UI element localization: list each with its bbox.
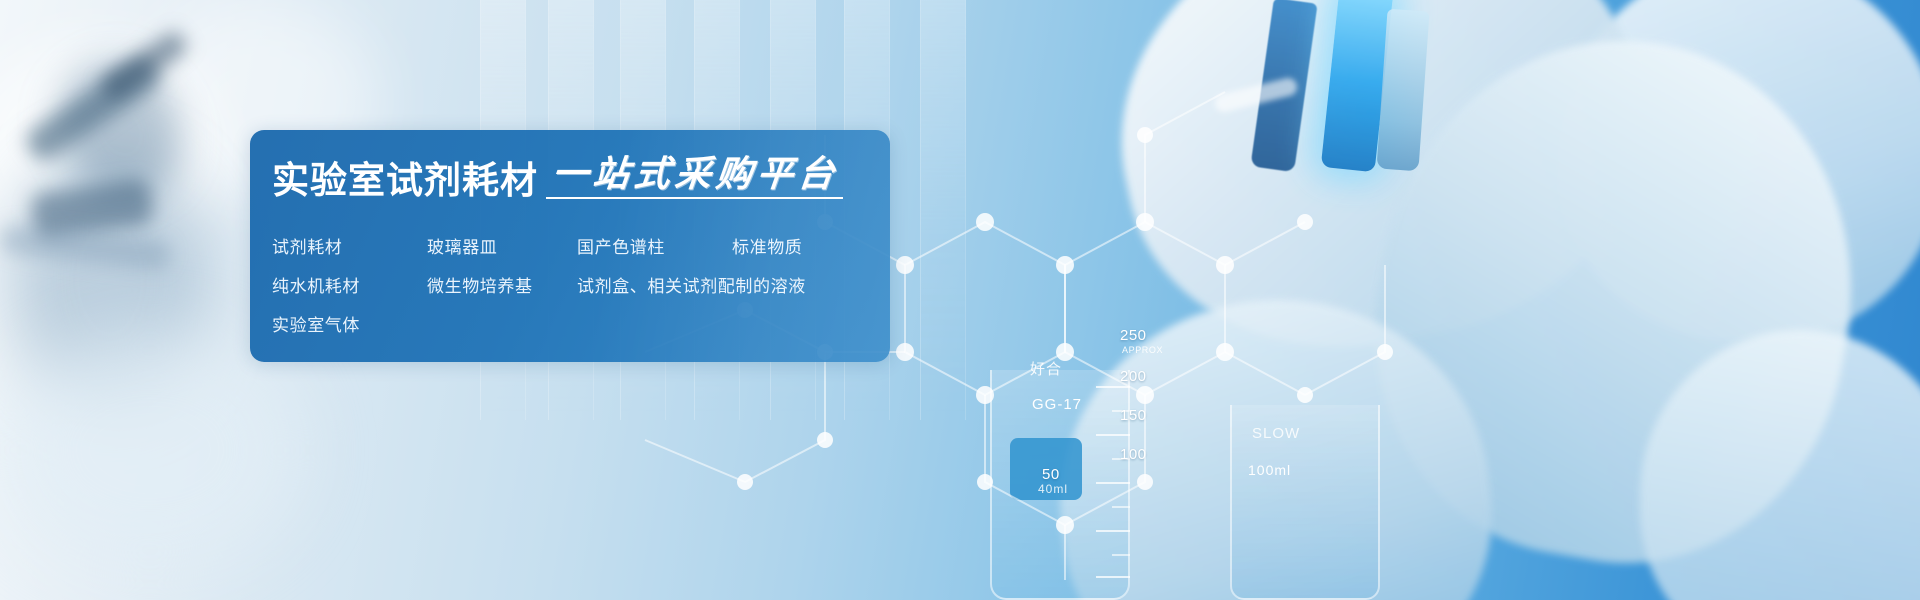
- category-item-microbial-culture-medium[interactable]: 微生物培养基: [427, 272, 577, 297]
- category-row: 试剂耗材 玻璃器皿 国产色谱柱 标准物质: [272, 226, 872, 265]
- category-row: 纯水机耗材 微生物培养基 试剂盒、相关试剂配制的溶液: [272, 265, 872, 304]
- title-calligraphy-text: 一站式采购平台: [550, 156, 841, 192]
- beaker-label-200: 200: [1120, 368, 1147, 385]
- promo-panel: 实验室试剂耗材 一站式采购平台 试剂耗材 玻璃器皿 国产色谱柱 标准物质 纯水机…: [250, 130, 890, 362]
- category-item-reagent-kits-solutions[interactable]: 试剂盒、相关试剂配制的溶液: [577, 272, 806, 297]
- beaker-label-approx: APPROX: [1122, 345, 1163, 355]
- beaker-glass-code: GG-17: [1032, 396, 1082, 413]
- category-list: 试剂耗材 玻璃器皿 国产色谱柱 标准物质 纯水机耗材 微生物培养基 试剂盒、相关…: [272, 226, 872, 343]
- beaker-label-250: 250: [1120, 327, 1147, 344]
- category-item-laboratory-gas[interactable]: 实验室气体: [272, 311, 427, 336]
- beaker-brand-cn: 好合: [1030, 358, 1062, 379]
- category-item-glassware[interactable]: 玻璃器皿: [427, 233, 577, 258]
- title-underline: [546, 197, 843, 199]
- title-main-text: 实验室试剂耗材: [272, 162, 538, 199]
- category-row: 实验室气体: [272, 304, 872, 343]
- category-item-domestic-chromatography-column[interactable]: 国产色谱柱: [577, 233, 732, 258]
- category-item-reference-material[interactable]: 标准物质: [732, 233, 802, 258]
- category-item-reagent-consumables[interactable]: 试剂耗材: [272, 233, 427, 258]
- beaker-label-50: 50: [1042, 466, 1060, 483]
- beaker-label-100: 100: [1120, 446, 1147, 463]
- beaker-label-150: 150: [1120, 407, 1147, 424]
- beaker-capacity: 100ml: [1248, 462, 1291, 478]
- lab-supplies-banner: 250 APPROX 200 150 100 50 GG-17 好合 100ml…: [0, 0, 1920, 600]
- beaker-brand-right: SLOW: [1252, 425, 1300, 442]
- title-calligraphy-wrap: 一站式采购平台: [552, 156, 839, 199]
- beaker-small-volume: 40ml: [1038, 482, 1068, 496]
- panel-title: 实验室试剂耗材 一站式采购平台: [272, 156, 839, 199]
- category-item-water-purifier-consumables[interactable]: 纯水机耗材: [272, 272, 427, 297]
